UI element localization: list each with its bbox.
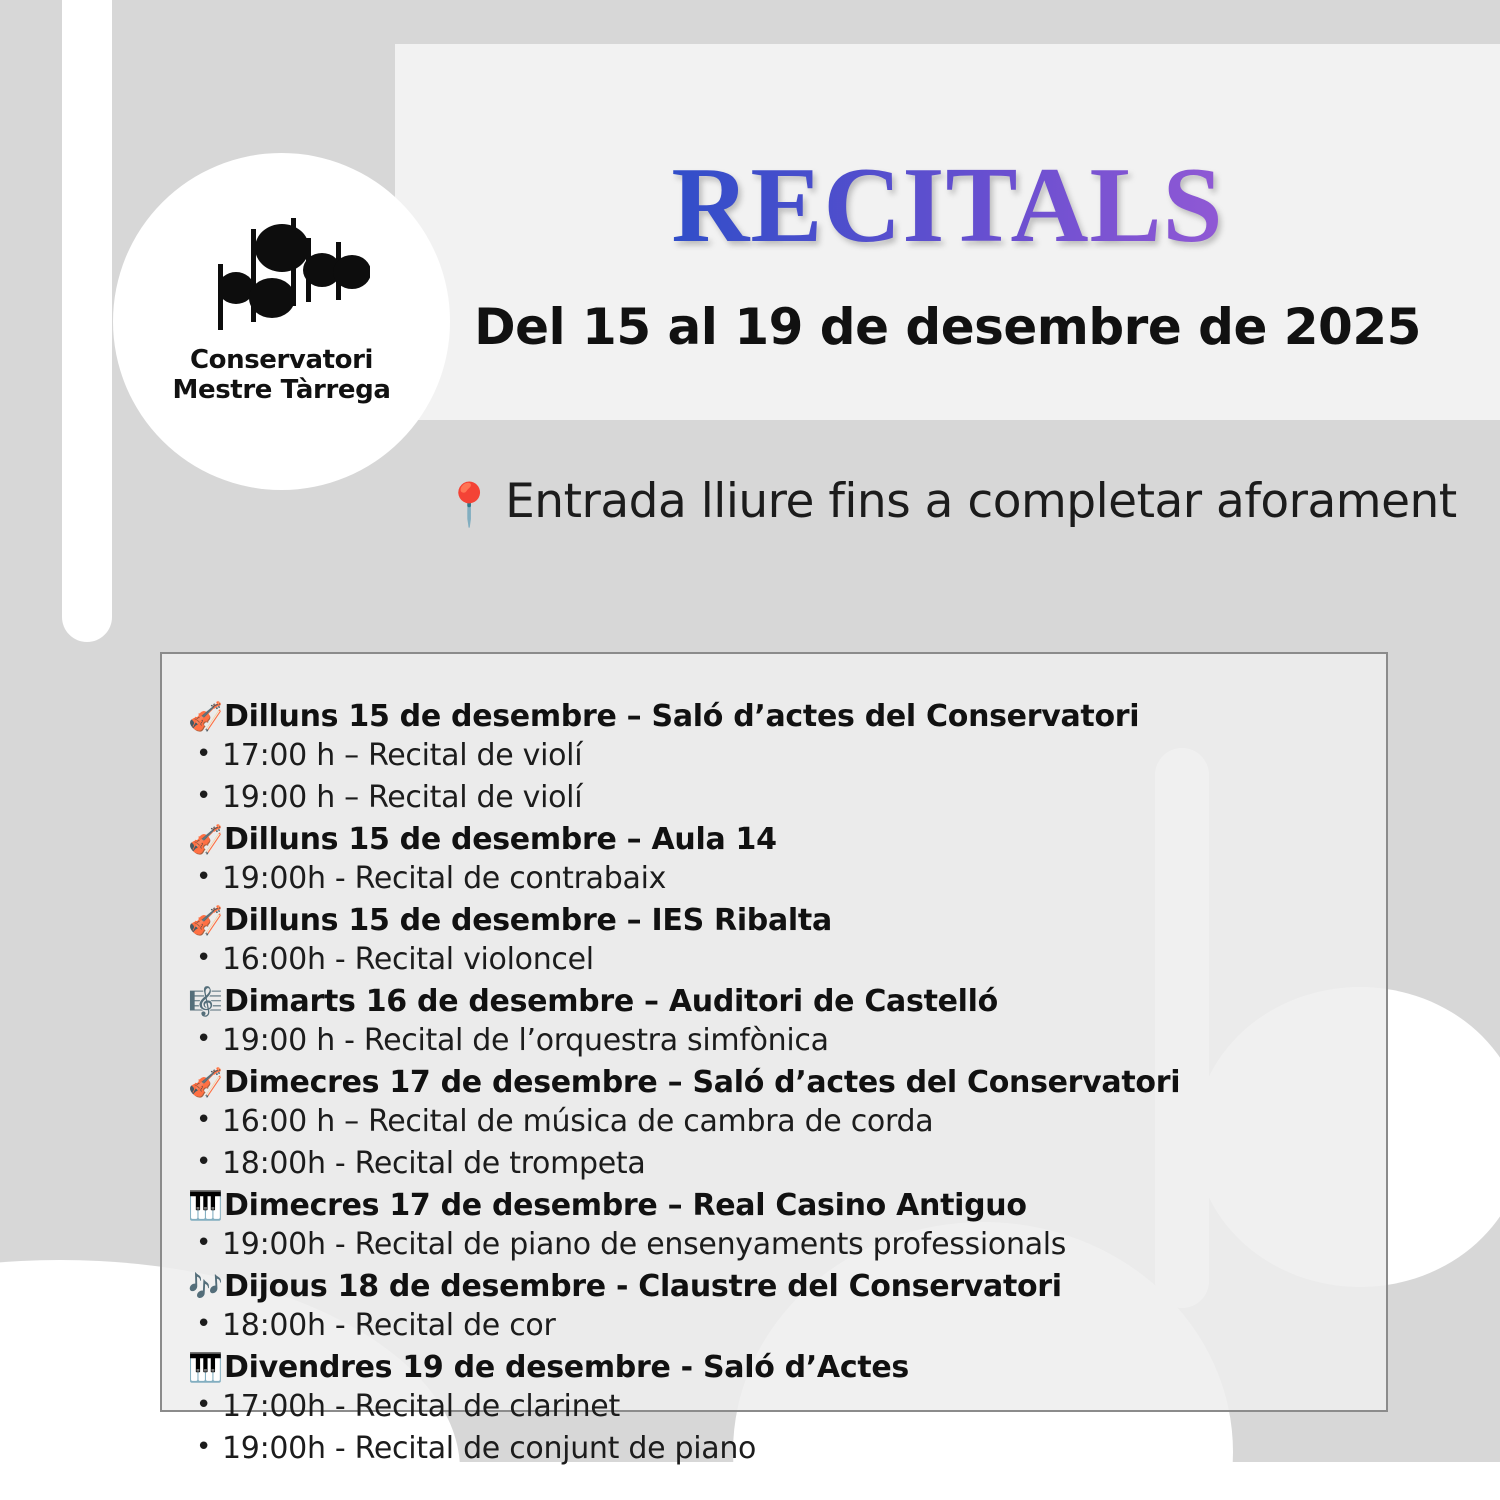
schedule-group-heading: 🎹Dimecres 17 de desembre – Real Casino A…: [162, 1191, 1386, 1230]
schedule-group-heading: 🎻Dilluns 15 de desembre – Aula 14: [162, 825, 1386, 864]
schedule-group-title: Dimecres 17 de desembre – Saló d’actes d…: [224, 1065, 1180, 1100]
schedule-item: •16:00 h – Recital de música de cambra d…: [162, 1107, 1386, 1149]
schedule-group: 🎻Dilluns 15 de desembre – Saló d’actes d…: [162, 702, 1386, 825]
bullet-icon: •: [196, 741, 211, 767]
schedule-item-text: 18:00h - Recital de trompeta: [222, 1146, 645, 1181]
schedule-item: •19:00 h – Recital de violí: [162, 783, 1386, 825]
schedule-item: •18:00h - Recital de trompeta: [162, 1149, 1386, 1191]
poster-canvas: Conservatori Mestre Tàrrega RECITALS Del…: [0, 0, 1500, 1500]
schedule-item-text: 16:00 h – Recital de música de cambra de…: [222, 1104, 933, 1139]
schedule-item-text: 19:00h - Recital de piano de ensenyament…: [222, 1227, 1066, 1262]
bullet-icon: •: [196, 1311, 211, 1337]
schedule-item: •16:00h - Recital violoncel: [162, 945, 1386, 987]
music-notes-logo-icon: [194, 216, 370, 339]
musical-score-icon: 🎼: [188, 988, 224, 1016]
multiple-musical-notes-icon: 🎶: [188, 1273, 224, 1301]
bullet-icon: •: [196, 1107, 211, 1133]
bullet-icon: •: [196, 1434, 211, 1460]
violin-icon: 🎻: [188, 1069, 224, 1097]
schedule-list: 🎻Dilluns 15 de desembre – Saló d’actes d…: [162, 702, 1386, 1476]
violin-icon: 🎻: [188, 826, 224, 854]
schedule-group: 🎻Dilluns 15 de desembre – Aula 14•19:00h…: [162, 825, 1386, 906]
schedule-group-title: Dilluns 15 de desembre – Saló d’actes de…: [224, 699, 1139, 734]
bullet-icon: •: [196, 1230, 211, 1256]
bullet-icon: •: [196, 1392, 211, 1418]
bullet-icon: •: [196, 783, 211, 809]
schedule-item-text: 19:00 h – Recital de violí: [222, 780, 582, 815]
schedule-group: 🎶Dijous 18 de desembre - Claustre del Co…: [162, 1272, 1386, 1353]
schedule-group-title: Dimarts 16 de desembre – Auditori de Cas…: [224, 984, 998, 1019]
schedule-group: 🎻Dilluns 15 de desembre – IES Ribalta•16…: [162, 906, 1386, 987]
schedule-item-text: 18:00h - Recital de cor: [222, 1308, 556, 1343]
schedule-group: 🎻Dimecres 17 de desembre – Saló d’actes …: [162, 1068, 1386, 1191]
schedule-item: •17:00h - Recital de clarinet: [162, 1392, 1386, 1434]
schedule-group-title: Divendres 19 de desembre - Saló d’Actes: [224, 1350, 909, 1385]
bullet-icon: •: [196, 945, 211, 971]
piano-keyboard-icon: 🎹: [188, 1192, 224, 1220]
free-entry-note: 📍Entrada lliure fins a completar aforame…: [400, 474, 1500, 530]
schedule-item: •18:00h - Recital de cor: [162, 1311, 1386, 1353]
logo-line-1: Conservatori: [173, 345, 391, 375]
schedule-item: •19:00h - Recital de piano de ensenyamen…: [162, 1230, 1386, 1272]
schedule-item-text: 19:00 h - Recital de l’orquestra simfòni…: [222, 1023, 829, 1058]
violin-icon: 🎻: [188, 907, 224, 935]
schedule-group: 🎼Dimarts 16 de desembre – Auditori de Ca…: [162, 987, 1386, 1068]
schedule-group: 🎹Divendres 19 de desembre - Saló d’Actes…: [162, 1353, 1386, 1476]
date-range-subtitle: Del 15 al 19 de desembre de 2025: [395, 298, 1500, 356]
schedule-item-text: 19:00h - Recital de conjunt de piano: [222, 1431, 756, 1466]
schedule-group-heading: 🎹Divendres 19 de desembre - Saló d’Actes: [162, 1353, 1386, 1392]
logo-text: Conservatori Mestre Tàrrega: [173, 345, 391, 406]
schedule-group-title: Dijous 18 de desembre - Claustre del Con…: [224, 1269, 1062, 1304]
schedule-item-text: 19:00h - Recital de contrabaix: [222, 861, 666, 896]
schedule-group-heading: 🎻Dimecres 17 de desembre – Saló d’actes …: [162, 1068, 1386, 1107]
bullet-icon: •: [196, 1026, 211, 1052]
decorative-bar-left: [62, 0, 112, 642]
bullet-icon: •: [196, 864, 211, 890]
schedule-group-title: Dimecres 17 de desembre – Real Casino An…: [224, 1188, 1027, 1223]
schedule-item-text: 17:00 h – Recital de violí: [222, 738, 582, 773]
schedule-item-text: 16:00h - Recital violoncel: [222, 942, 594, 977]
round-pushpin-icon: 📍: [443, 480, 495, 529]
schedule-group-title: Dilluns 15 de desembre – IES Ribalta: [224, 903, 832, 938]
schedule-item: •19:00h - Recital de conjunt de piano: [162, 1434, 1386, 1476]
schedule-group-heading: 🎻Dilluns 15 de desembre – Saló d’actes d…: [162, 702, 1386, 741]
schedule-item: •19:00h - Recital de contrabaix: [162, 864, 1386, 906]
free-entry-text: Entrada lliure fins a completar aforamen…: [505, 474, 1457, 529]
schedule-group-heading: 🎼Dimarts 16 de desembre – Auditori de Ca…: [162, 987, 1386, 1026]
schedule-item: •19:00 h - Recital de l’orquestra simfòn…: [162, 1026, 1386, 1068]
schedule-group-title: Dilluns 15 de desembre – Aula 14: [224, 822, 777, 857]
schedule-item: •17:00 h – Recital de violí: [162, 741, 1386, 783]
bullet-icon: •: [196, 1149, 211, 1175]
schedule-group: 🎹Dimecres 17 de desembre – Real Casino A…: [162, 1191, 1386, 1272]
schedule-group-heading: 🎶Dijous 18 de desembre - Claustre del Co…: [162, 1272, 1386, 1311]
piano-keyboard-icon: 🎹: [188, 1354, 224, 1382]
schedule-item-text: 17:00h - Recital de clarinet: [222, 1389, 620, 1424]
page-title: RECITALS: [395, 152, 1500, 260]
schedule-group-heading: 🎻Dilluns 15 de desembre – IES Ribalta: [162, 906, 1386, 945]
logo-line-2: Mestre Tàrrega: [173, 375, 391, 405]
schedule-panel: 🎻Dilluns 15 de desembre – Saló d’actes d…: [160, 652, 1388, 1412]
violin-icon: 🎻: [188, 703, 224, 731]
